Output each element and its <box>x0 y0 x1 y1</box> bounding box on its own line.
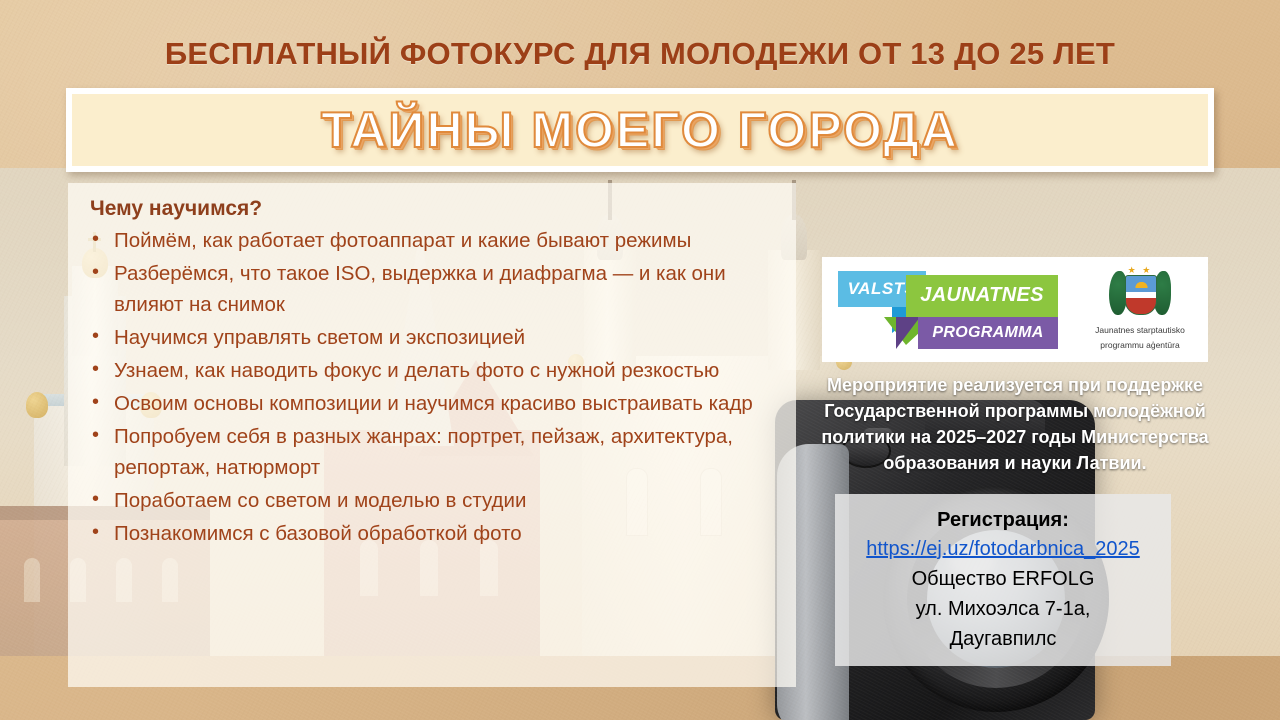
logo-programma-label: PROGRAMMA <box>918 317 1058 349</box>
latvian-coat-of-arms-icon: ★ ★ ★ <box>1109 265 1171 321</box>
registration-link[interactable]: https://ej.uz/fotodarbnica_2025 <box>866 534 1140 564</box>
registration-box: Регистрация: https://ej.uz/fotodarbnica_… <box>835 494 1171 666</box>
organization-city: Даугавпилс <box>950 624 1057 654</box>
list-item: Научимся управлять светом и экспозицией <box>82 322 778 353</box>
poster-title: ТАЙНЫ МОЕГО ГОРОДА <box>321 101 959 159</box>
jspa-agency-logo: ★ ★ ★ Jaunatnes starptautisko programmu … <box>1076 263 1204 357</box>
valsts-jaunatnes-programma-logo: VALSTS JAUNATNES PROGRAMMA <box>832 267 1060 353</box>
list-item: Узнаем, как наводить фокус и делать фото… <box>82 355 778 386</box>
list-item: Поймём, как работает фотоаппарат и какие… <box>82 225 778 256</box>
organization-name: Общество ERFOLG <box>912 564 1095 594</box>
list-heading: Чему научимся? <box>90 197 778 221</box>
list-item: Попробуем себя в разных жанрах: портрет,… <box>82 421 778 483</box>
list-item: Познакомимся с базовой обработкой фото <box>82 518 778 549</box>
agency-caption-line1: Jaunatnes starptautisko <box>1076 325 1204 336</box>
learning-points-list: Поймём, как работает фотоаппарат и какие… <box>82 225 778 549</box>
title-banner: ТАЙНЫ МОЕГО ГОРОДА <box>66 88 1214 172</box>
list-item: Поработаем со светом и моделью в студии <box>82 485 778 516</box>
poster-root: БЕСПЛАТНЫЙ ФОТОКУРС ДЛЯ МОЛОДЕЖИ ОТ 13 Д… <box>0 0 1280 720</box>
sponsor-logos-block: VALSTS JAUNATNES PROGRAMMA ★ ★ ★ Jaunatn… <box>822 257 1208 362</box>
agency-caption-line2: programmu aģentūra <box>1076 340 1204 351</box>
list-item: Разберёмся, что такое ISO, выдержка и ди… <box>82 258 778 320</box>
organization-address: ул. Михоэлса 7-1а, <box>916 594 1091 624</box>
support-statement: Мероприятие реализуется при поддержке Го… <box>790 372 1240 476</box>
poster-headline: БЕСПЛАТНЫЙ ФОТОКУРС ДЛЯ МОЛОДЕЖИ ОТ 13 Д… <box>0 36 1280 72</box>
list-item: Освоим основы композиции и научимся крас… <box>82 388 778 419</box>
registration-title: Регистрация: <box>937 506 1069 534</box>
logo-jaunatnes-label: JAUNATNES <box>906 275 1058 317</box>
learning-points-panel: Чему научимся? Поймём, как работает фото… <box>68 183 796 687</box>
